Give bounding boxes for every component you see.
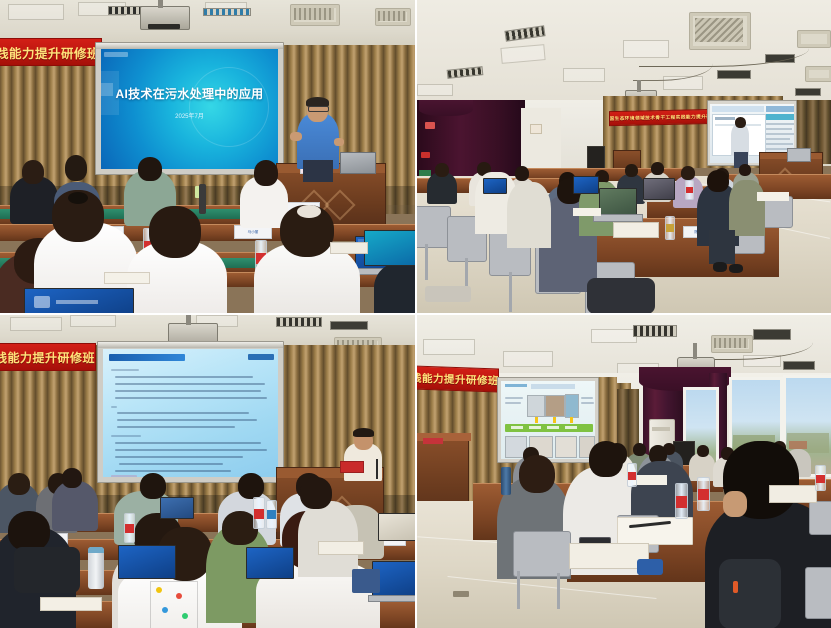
chair bbox=[809, 501, 831, 535]
speaker-placard bbox=[340, 461, 364, 473]
attendee-head bbox=[739, 164, 751, 176]
water-bottle bbox=[675, 483, 688, 519]
event-banner-bottom-right: 践能力提升研修班 bbox=[417, 365, 499, 392]
attendee-head bbox=[140, 473, 166, 499]
attendee-head bbox=[254, 160, 278, 186]
backpack bbox=[587, 278, 655, 313]
podium-laptop bbox=[787, 148, 811, 162]
document-stack bbox=[769, 485, 817, 503]
document-stack bbox=[330, 242, 368, 254]
projection-screen-bottom-left[interactable] bbox=[103, 349, 278, 477]
projection-screen-top-left[interactable]: AI技术在污水处理中的应用 2025年7月 bbox=[101, 49, 278, 169]
attendee-head bbox=[589, 441, 623, 477]
water-bottle bbox=[665, 216, 675, 240]
slide-header-bar bbox=[109, 354, 185, 361]
document-stack bbox=[40, 597, 102, 611]
bag bbox=[425, 286, 471, 302]
speaker-glasses-icon bbox=[308, 106, 329, 112]
slide-title-top-left: AI技术在污水处理中的应用 bbox=[101, 85, 278, 102]
podium-laptop bbox=[340, 152, 376, 174]
backpack bbox=[14, 547, 80, 593]
attendee-head bbox=[625, 164, 638, 177]
slide-image bbox=[527, 395, 545, 417]
slide-image bbox=[555, 436, 577, 458]
microphone bbox=[376, 459, 378, 479]
attendee-head bbox=[138, 157, 162, 181]
attendee-head bbox=[62, 468, 82, 488]
attendee-head bbox=[681, 166, 695, 180]
attendee-head bbox=[515, 166, 529, 181]
panel-bottom-right[interactable]: 践能力提升研修班 bbox=[417, 315, 831, 628]
attendee-head bbox=[519, 455, 555, 493]
ceiling-light bbox=[795, 88, 821, 96]
ceiling-light bbox=[276, 317, 322, 327]
laptop bbox=[160, 497, 194, 519]
thermos-cup bbox=[501, 467, 511, 495]
attendee-head bbox=[651, 162, 664, 175]
ceiling-light bbox=[633, 325, 677, 337]
speaker-head-top-right bbox=[735, 117, 746, 128]
chair bbox=[513, 531, 571, 577]
water-bottle bbox=[266, 500, 277, 529]
slide-image bbox=[545, 395, 565, 417]
notebook bbox=[617, 517, 693, 545]
laptop bbox=[573, 176, 599, 194]
podium-placard bbox=[423, 438, 443, 444]
attendee-head bbox=[435, 163, 449, 177]
attendee-head bbox=[149, 206, 201, 258]
document-stack bbox=[757, 192, 789, 201]
projection-screen-bottom-right[interactable] bbox=[501, 381, 595, 459]
wall-sign bbox=[530, 124, 542, 134]
water-bottle bbox=[124, 513, 135, 543]
laptop bbox=[246, 547, 294, 579]
event-banner-text: 践能力提升研修班 bbox=[417, 370, 499, 388]
blue-bag bbox=[637, 559, 663, 575]
water-bottle bbox=[815, 465, 826, 491]
name-placard-text: 马小丽 bbox=[248, 229, 259, 234]
attendee-head bbox=[633, 443, 646, 456]
water-bottle bbox=[253, 497, 265, 529]
slide-image bbox=[565, 394, 579, 418]
chair bbox=[805, 567, 831, 619]
exit-sign bbox=[425, 122, 435, 129]
ceiling-light bbox=[330, 321, 368, 330]
document-stack bbox=[573, 208, 601, 216]
water-bottle bbox=[685, 180, 694, 200]
ceiling-light bbox=[783, 361, 815, 370]
attendee bbox=[729, 180, 765, 236]
attendee-foreground bbox=[374, 262, 415, 313]
attendee-head bbox=[707, 170, 729, 192]
document-stack bbox=[104, 272, 150, 284]
thermos-cup bbox=[88, 547, 104, 589]
projection-screen-frame: AI技术在污水处理中的应用 2025年7月 bbox=[95, 42, 284, 175]
attendee-head bbox=[300, 477, 332, 509]
attendee-head bbox=[8, 473, 30, 495]
projection-screen-frame bbox=[497, 377, 599, 463]
red-tag bbox=[733, 581, 738, 593]
event-banner-top-right: 全国生态环境领域技术骨干工程实践能力提升研修班 bbox=[609, 109, 717, 126]
event-banner-text: 全国生态环境领域技术骨干工程实践能力提升研修班 bbox=[609, 113, 717, 121]
ceiling-light bbox=[203, 8, 251, 16]
projection-screen-frame bbox=[97, 341, 284, 483]
document-stack bbox=[613, 222, 659, 238]
attendee bbox=[507, 182, 551, 248]
water-bottle bbox=[697, 477, 710, 511]
attendee bbox=[52, 481, 98, 531]
attendee-head bbox=[8, 511, 50, 551]
exit-sign bbox=[421, 152, 430, 158]
laptop bbox=[643, 178, 675, 200]
event-banner-text: 践能力提升研修班 bbox=[0, 43, 100, 62]
air-conditioner-vent bbox=[805, 66, 831, 82]
panel-top-right[interactable]: 全国生态环境领域技术骨干工程实践能力提升研修班 bbox=[417, 0, 831, 313]
panel-bottom-left[interactable]: 践能力提升研修班 bbox=[0, 315, 415, 628]
panel-top-left[interactable]: 践能力提升研修班 AI技术在污水处理中的应用 2025年7月 刘文星 bbox=[0, 0, 415, 313]
notebook bbox=[352, 569, 380, 593]
laptop bbox=[378, 513, 415, 541]
water-bottle bbox=[627, 463, 637, 487]
attendee-head bbox=[238, 473, 264, 499]
attendee-head bbox=[22, 160, 44, 184]
event-banner-bottom-left: 践能力提升研修班 bbox=[0, 343, 96, 371]
event-banner-text: 践能力提升研修班 bbox=[0, 349, 95, 366]
laptop bbox=[364, 230, 415, 266]
slide-page-badge bbox=[248, 354, 274, 360]
event-banner-top-left: 践能力提升研修班 bbox=[0, 38, 102, 66]
laptop bbox=[118, 545, 176, 579]
attendee-head bbox=[697, 445, 709, 457]
attendee-head bbox=[65, 155, 87, 181]
photo-collage: 践能力提升研修班 AI技术在污水处理中的应用 2025年7月 刘文星 bbox=[0, 0, 831, 628]
document-stack bbox=[318, 541, 364, 555]
microphone-stand bbox=[199, 184, 206, 214]
attendee-foreground bbox=[298, 501, 358, 577]
slide-subtitle-top-left: 2025年7月 bbox=[101, 111, 278, 120]
chair bbox=[417, 206, 451, 248]
laptop bbox=[483, 178, 507, 194]
floor-mark bbox=[453, 591, 469, 597]
ceiling-light bbox=[717, 70, 751, 79]
